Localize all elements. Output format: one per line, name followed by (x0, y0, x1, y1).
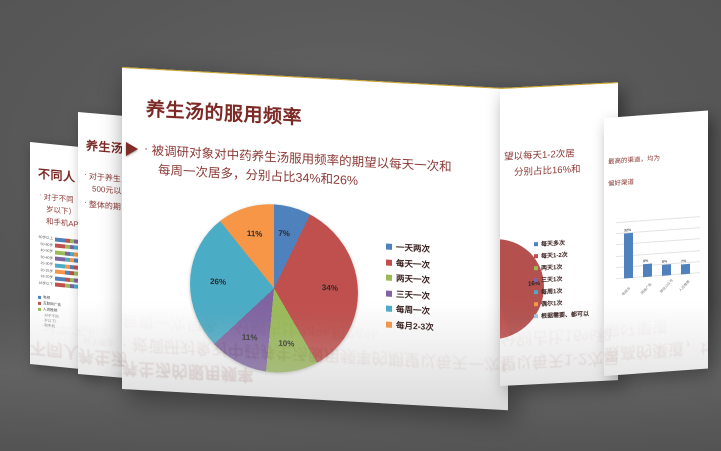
legend-label: 每周1次 (541, 286, 562, 296)
pie-slice-label: 26% (210, 277, 226, 287)
legend-item: 每天一次 (386, 256, 434, 271)
pie-slice-label: 10% (278, 338, 294, 348)
legend-item: 偶尔1次 (534, 297, 589, 309)
legend-label: 一天两次 (396, 241, 430, 255)
slide-1-chart-legend: 电视互联网广告人员推销 (38, 295, 61, 315)
bar-row-label: 20-25岁 (36, 267, 53, 274)
legend-label: 两天1次 (541, 262, 562, 272)
legend-swatch-icon (534, 278, 538, 282)
slide-carousel-stage: 不同人 · 对于不同 岁以下） 和手机AP 60岁以上50-60岁40-50岁3… (0, 0, 721, 451)
legend-item: 一天两次 (386, 241, 434, 256)
bar-category-label: 微信公众号 (658, 278, 674, 294)
legend-label: 两天一次 (396, 272, 430, 286)
legend-item: 每周1次 (534, 285, 589, 297)
legend-label: 每天多次 (541, 238, 565, 248)
next-slide-arrow-icon[interactable] (126, 142, 138, 156)
bar-segment (55, 283, 65, 288)
legend-swatch-icon (386, 244, 392, 250)
pie-slice-label: 34% (322, 283, 338, 293)
bar-category-label: 人员推销 (677, 279, 690, 293)
pie-chart: 7%34%10%11%26%11% 一天两次每天一次两天一次三天一次每周一次每月… (190, 198, 490, 394)
page-title: 养生汤的服用频率 (146, 94, 302, 130)
slide-1-title: 不同人 (38, 165, 76, 186)
legend-swatch-icon (534, 266, 538, 270)
legend-item: 每周一次 (386, 303, 434, 318)
bar-segment (55, 276, 65, 281)
slide-1-footnote: · 对于不同 · 岁以下） · 和手机 (42, 313, 59, 330)
legend-swatch-icon (38, 308, 41, 311)
slide-2-bullet-2: 500元以 (92, 183, 121, 197)
legend-label: 根据需要、都可以 (541, 309, 589, 320)
bar-value-label: 8% (662, 259, 667, 263)
bar-value-label: 9% (643, 259, 648, 263)
legend-swatch-icon (386, 321, 392, 327)
legend-item: 两天一次 (386, 272, 434, 287)
slide-2-title: 养生汤 (86, 137, 124, 157)
bar-segment (55, 244, 65, 249)
legend-item: 两天1次 (534, 261, 589, 273)
slide-thumbnail-5[interactable]: 最高的渠道，均为 偏好渠道 32%电视台9%网络广告8%微信公众号7%人员推销 (604, 111, 708, 376)
legend-label: 每天1-2次 (541, 250, 568, 260)
legend-item: 每月2-3次 (386, 318, 434, 333)
slide-2-bullet-3: · 整体的期 (84, 199, 121, 214)
legend-label: 偶尔1次 (541, 298, 562, 308)
legend-swatch-icon (534, 290, 538, 294)
bar-row-label: 40-50岁 (36, 248, 53, 255)
slide-5-bar-chart: 32%电视台9%网络广告8%微信公众号7%人员推销 (616, 215, 700, 299)
bar-row-label: 18-20岁 (36, 274, 53, 281)
legend-swatch-icon (38, 302, 41, 305)
bar (681, 264, 690, 274)
bar-row-label: 25-30岁 (36, 261, 53, 268)
bar-row-label: 18岁以下 (36, 280, 53, 287)
legend-label: 电视 (43, 295, 50, 301)
bar-row-label: 50-60岁 (36, 241, 53, 248)
bar-segment (55, 263, 65, 268)
pie-slice-label: 7% (278, 229, 290, 239)
grid-line (616, 216, 700, 223)
legend-swatch-icon (38, 296, 41, 299)
legend-swatch-icon (386, 306, 392, 312)
bar-segment (55, 237, 65, 242)
legend-swatch-icon (534, 254, 538, 258)
slide-1-bullet-3: 和手机AP (46, 216, 79, 231)
slide-body: · 被调研对象对中药养生汤服用频率的期望以每天一次和 每周一次居多，分别占比34… (144, 141, 484, 198)
bar-row-label: 30-40岁 (36, 254, 53, 261)
pie-slice-label: 11% (247, 229, 263, 239)
legend-item: 每天1-2次 (534, 249, 589, 261)
pie-slice-label: 11% (242, 332, 258, 342)
legend-swatch-icon (534, 302, 538, 306)
legend-swatch-icon (386, 290, 392, 296)
pie-chart-legend: 一天两次每天一次两天一次三天一次每周一次每月2-3次 (386, 241, 434, 337)
legend-label: 三天一次 (396, 288, 430, 302)
legend-label: 每天一次 (396, 257, 430, 271)
slide-thumbnail-4[interactable]: 望以每天1-2次居 分别占比16%和 16% 每天多次每天1-2次两天1次三天1… (500, 82, 618, 386)
slide-4-chart-legend: 每天多次每天1-2次两天1次三天1次每周1次偶尔1次根据需要、都可以 (534, 237, 589, 324)
slide-5-bullet-2: 偏好渠道 (608, 178, 634, 190)
legend-label: 三天1次 (541, 274, 562, 284)
bar-segment (55, 250, 65, 255)
bar-value-label: 32% (624, 228, 631, 233)
bar (624, 233, 633, 278)
legend-swatch-icon (386, 259, 392, 265)
bar-category-label: 网络广告 (639, 282, 652, 296)
legend-swatch-icon (386, 275, 392, 281)
slide-4-bullet-2: 分别占比16%和 (514, 163, 581, 181)
bar-row-label: 60岁以上 (36, 235, 53, 242)
legend-item: 根据需要、都可以 (534, 309, 589, 321)
legend-label: 每周一次 (396, 303, 430, 317)
bar-value-label: 7% (681, 259, 686, 263)
slide-4-bullet-1: 望以每天1-2次居 (504, 147, 575, 165)
slide-5-bullet-1: 最高的渠道，均为 (608, 154, 660, 168)
bar-segment (55, 257, 65, 262)
bar (643, 264, 652, 277)
legend-swatch-icon (534, 242, 538, 246)
legend-label: 每月2-3次 (396, 319, 434, 333)
bar-segment (55, 270, 65, 275)
active-slide[interactable]: 养生汤的服用频率 · 被调研对象对中药养生汤服用频率的期望以每天一次和 每周一次… (122, 67, 508, 410)
legend-swatch-icon (534, 314, 538, 318)
slide-1-bullet-1: · 对于不同 (39, 191, 74, 206)
legend-item: 三天1次 (534, 273, 589, 285)
legend-item: 三天一次 (386, 287, 434, 302)
bar (662, 264, 671, 276)
legend-item: 每天多次 (534, 237, 589, 249)
bar-category-label: 电视台 (620, 286, 631, 297)
